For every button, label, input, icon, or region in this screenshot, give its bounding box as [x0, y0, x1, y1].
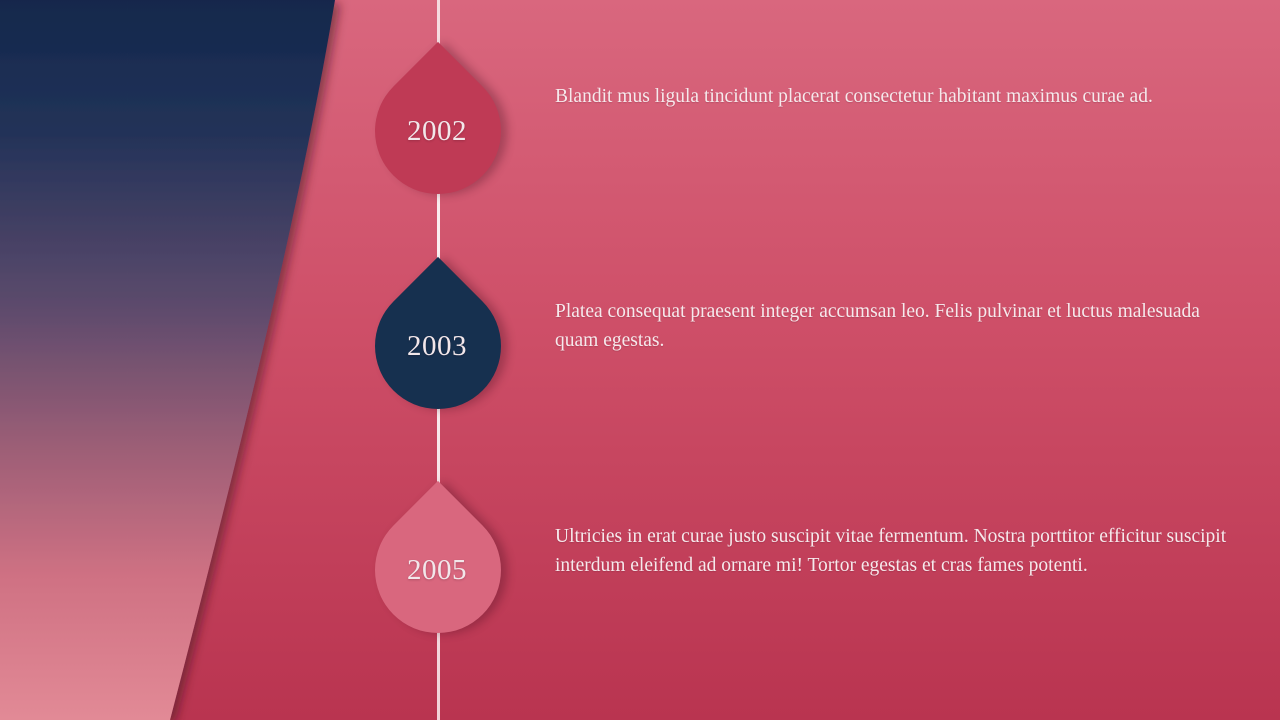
entry-description-text: Ultricies in erat curae justo suscipit v…: [555, 522, 1245, 580]
entry-description-text: Platea consequat praesent integer accums…: [555, 297, 1245, 355]
marker-year-label: 2003: [375, 283, 501, 409]
entry-description-text: Blandit mus ligula tincidunt placerat co…: [555, 82, 1245, 111]
entry-description: Platea consequat praesent integer accums…: [555, 297, 1245, 355]
marker-year-label: 2005: [375, 507, 501, 633]
entry-description: Blandit mus ligula tincidunt placerat co…: [555, 82, 1245, 111]
timeline-marker[interactable]: 2002: [375, 68, 501, 194]
timeline-slide: 2002 Blandit mus ligula tincidunt placer…: [0, 0, 1280, 720]
timeline-marker[interactable]: 2003: [375, 283, 501, 409]
timeline-marker[interactable]: 2005: [375, 507, 501, 633]
curved-panel-shape: [0, 0, 335, 720]
entry-description: Ultricies in erat curae justo suscipit v…: [555, 522, 1245, 580]
decorative-curved-panel: [0, 0, 345, 720]
marker-year-label: 2002: [375, 68, 501, 194]
